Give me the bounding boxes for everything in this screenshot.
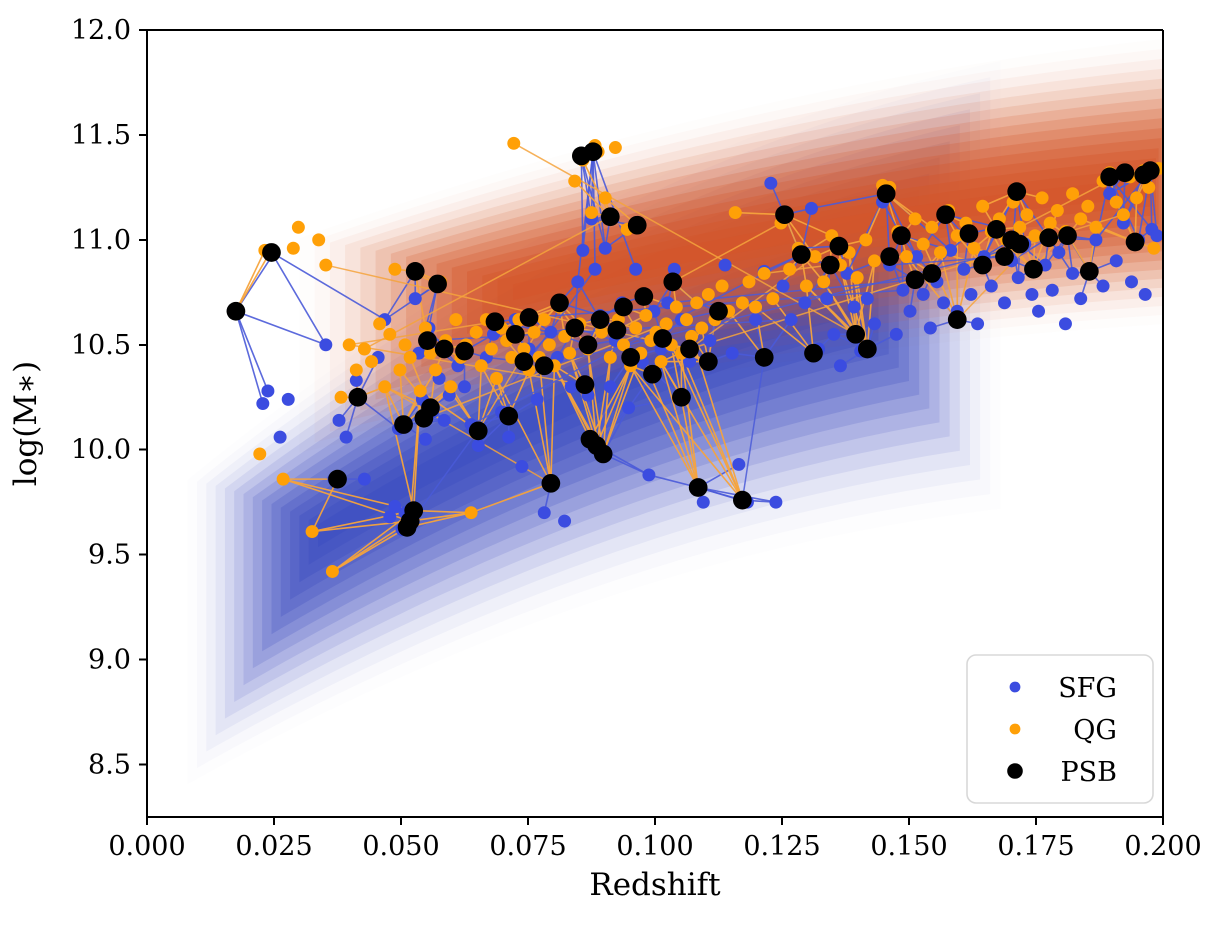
y-tick-label: 10.5 bbox=[71, 330, 131, 361]
x-tick-label: 0.175 bbox=[997, 831, 1074, 862]
y-tick-label: 9.0 bbox=[88, 645, 131, 676]
y-tick-label: 10.0 bbox=[71, 435, 131, 466]
x-tick-label: 0.025 bbox=[235, 831, 312, 862]
legend-marker-sfg bbox=[1010, 682, 1021, 693]
y-tick-label: 12.0 bbox=[71, 15, 131, 46]
legend[interactable]: SFGQGPSB bbox=[967, 655, 1153, 803]
legend-label: QG bbox=[1073, 715, 1117, 746]
y-tick-label: 8.5 bbox=[88, 750, 131, 781]
legend-marker-qg bbox=[1010, 724, 1021, 735]
y-tick-label: 11.0 bbox=[71, 225, 131, 256]
scatter-plot: 0.0000.0250.0500.0750.1000.1250.1500.175… bbox=[0, 0, 1218, 926]
legend-label: PSB bbox=[1060, 757, 1117, 788]
x-axis-label: Redshift bbox=[589, 867, 721, 903]
legend-marker-psb bbox=[1007, 763, 1023, 779]
y-tick-label: 9.5 bbox=[88, 540, 131, 571]
x-tick-label: 0.075 bbox=[489, 831, 566, 862]
x-tick-label: 0.050 bbox=[362, 831, 439, 862]
x-tick-label: 0.200 bbox=[1124, 831, 1201, 862]
x-tick-group: 0.0000.0250.0500.0750.1000.1250.1500.175… bbox=[108, 817, 1201, 862]
legend-label: SFG bbox=[1058, 673, 1117, 704]
y-tick-group: 8.59.09.510.010.511.011.512.0 bbox=[71, 15, 147, 781]
figure-canvas: 0.0000.0250.0500.0750.1000.1250.1500.175… bbox=[0, 0, 1218, 926]
y-tick-label: 11.5 bbox=[71, 120, 131, 151]
x-tick-label: 0.125 bbox=[743, 831, 820, 862]
y-axis-label: log(M∗) bbox=[8, 361, 44, 486]
x-tick-label: 0.000 bbox=[108, 831, 185, 862]
svg-text:log(M∗): log(M∗) bbox=[8, 361, 44, 486]
x-tick-label: 0.100 bbox=[616, 831, 693, 862]
x-tick-label: 0.150 bbox=[870, 831, 947, 862]
